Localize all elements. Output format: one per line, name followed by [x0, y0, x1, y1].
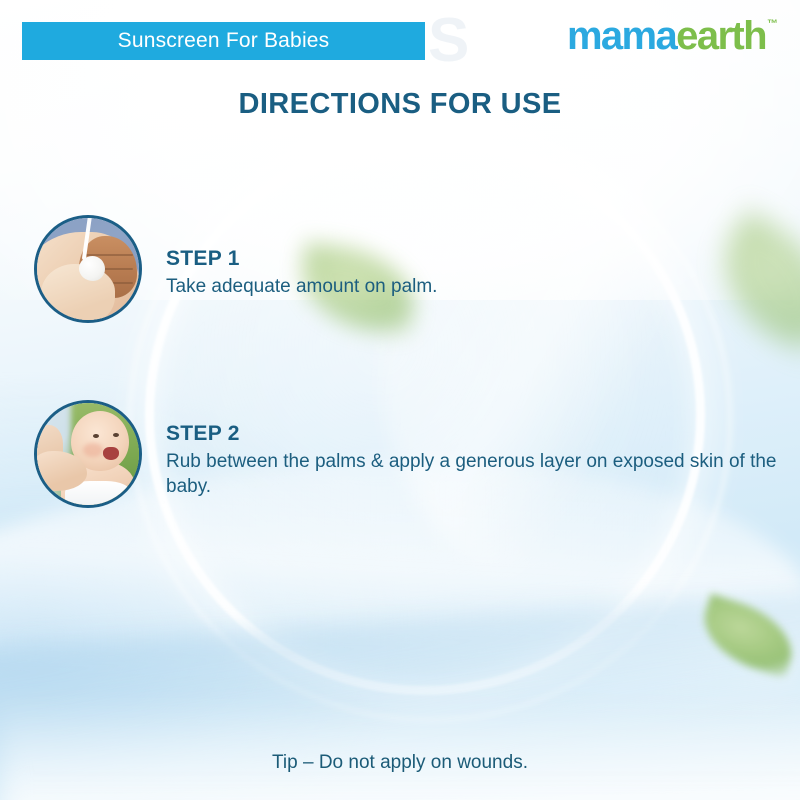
baby-cheek — [83, 443, 103, 457]
directions-for-use-infographic: S Sunscreen For Babies mama earth ™ DIRE… — [0, 0, 800, 800]
baby-eye — [113, 433, 119, 437]
step-1-description: Take adequate amount on palm. — [166, 274, 437, 299]
baby-mouth — [103, 447, 119, 460]
step-2-label: STEP 2 — [166, 422, 791, 446]
step-1-text-block: STEP 1 Take adequate amount on palm. — [166, 215, 437, 299]
tip-text: Tip – Do not apply on wounds. — [0, 752, 800, 774]
palm-photo — [37, 218, 139, 320]
cream-blob-icon — [79, 256, 105, 281]
step-1-label: STEP 1 — [166, 247, 437, 271]
step-2-text-block: STEP 2 Rub between the palms & apply a g… — [166, 400, 791, 499]
step-item: STEP 2 Rub between the palms & apply a g… — [34, 400, 791, 508]
step-2-thumbnail — [34, 400, 142, 508]
step-2-description: Rub between the palms & apply a generous… — [166, 449, 791, 499]
step-1-thumbnail — [34, 215, 142, 323]
steps-list: STEP 1 Take adequate amount on palm. — [0, 0, 800, 800]
step-item: STEP 1 Take adequate amount on palm. — [34, 215, 437, 323]
baby-eye — [93, 434, 99, 438]
baby-photo — [37, 403, 139, 505]
